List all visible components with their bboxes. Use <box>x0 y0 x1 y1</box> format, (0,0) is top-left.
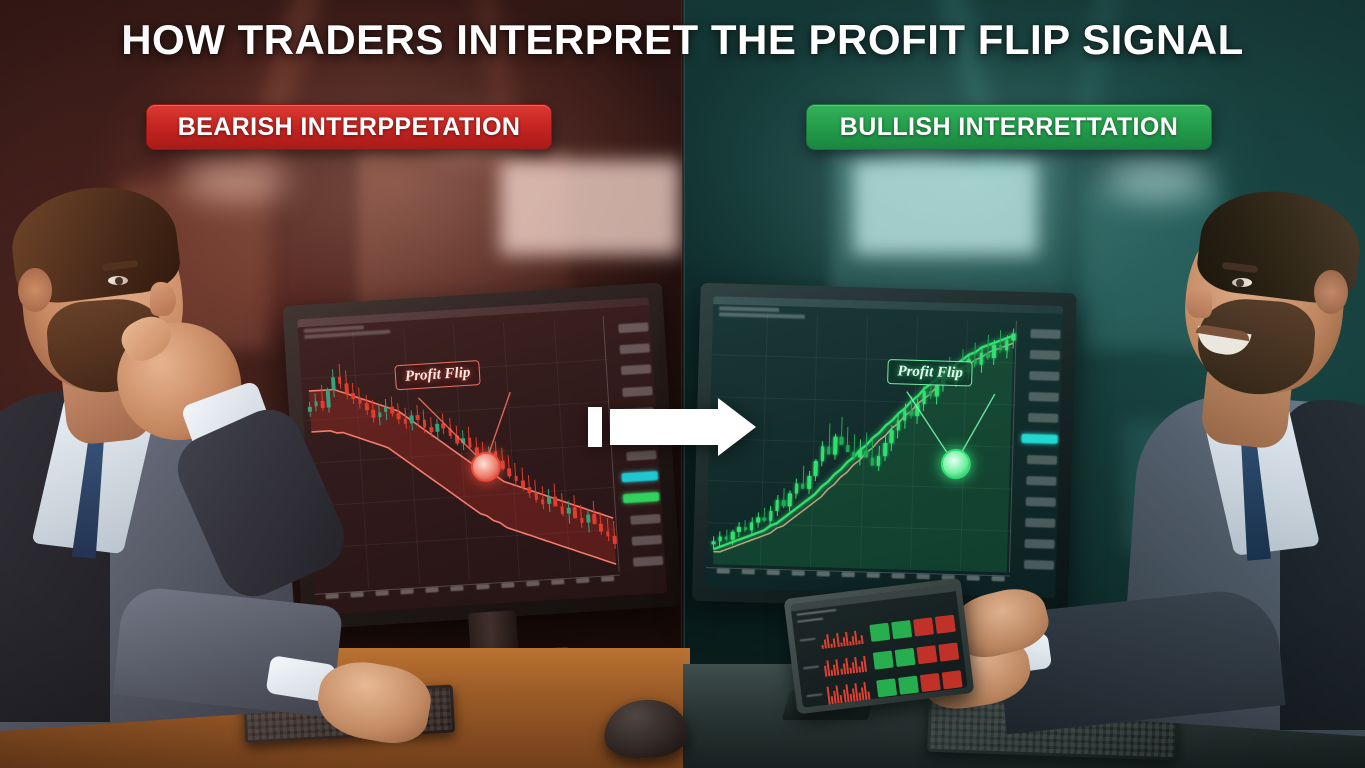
tablet-cell <box>942 670 963 689</box>
x-axis-tick <box>501 582 514 588</box>
x-axis-tick <box>400 589 413 595</box>
tablet-cell <box>869 623 890 642</box>
tablet-bar <box>840 669 843 675</box>
x-axis-tick <box>325 593 338 599</box>
price-axis-label <box>1025 518 1055 528</box>
tablet-cell <box>891 620 912 639</box>
x-axis-tick <box>551 579 564 585</box>
tablet-bar <box>861 635 864 644</box>
tablet-bar <box>840 642 842 646</box>
tablet-cell <box>898 676 919 695</box>
candle <box>986 335 990 360</box>
tablet-bar <box>849 641 851 645</box>
candle <box>864 432 868 457</box>
price-axis-label <box>630 513 661 524</box>
candle <box>788 491 792 511</box>
candle <box>807 471 811 494</box>
x-axis-tick <box>916 574 929 579</box>
tablet-bar <box>821 645 823 649</box>
x-axis-tick <box>841 572 854 577</box>
candle <box>814 459 818 482</box>
candle <box>999 330 1003 353</box>
candle <box>750 517 754 535</box>
candle <box>718 532 722 547</box>
tablet-bar <box>863 656 867 672</box>
candle <box>724 529 728 542</box>
x-axis-tick <box>741 569 754 574</box>
price-axis-label <box>622 386 653 397</box>
x-axis-tick <box>866 573 879 578</box>
x-axis-tick <box>991 576 1004 581</box>
tablet-bar <box>858 640 860 644</box>
x-axis-tick <box>716 568 729 573</box>
x-axis-tick <box>891 573 904 578</box>
candle <box>840 417 844 445</box>
tablet-bar <box>826 634 830 648</box>
bullish-badge: BULLISH INTERRETTATION <box>806 104 1212 150</box>
candle <box>846 427 850 452</box>
tablet-screen[interactable] <box>790 584 967 707</box>
candle <box>833 434 837 459</box>
bullish-monitor: Profit Flip <box>691 283 1076 633</box>
x-axis-tick <box>426 587 439 593</box>
candle <box>858 440 862 465</box>
candle <box>769 505 773 525</box>
price-axis-label <box>632 535 663 546</box>
price-axis-label <box>619 343 650 354</box>
tablet-cell <box>920 673 941 692</box>
candle <box>870 440 874 465</box>
x-axis-tick <box>791 570 804 575</box>
profit-flip-label: Profit Flip <box>394 360 481 390</box>
candle <box>737 522 741 537</box>
price-axis-label <box>1024 560 1054 570</box>
candle <box>762 508 766 523</box>
candle <box>801 466 805 489</box>
tablet-cell <box>873 650 894 669</box>
candle <box>876 445 880 470</box>
page-title: HOW TRADERS INTERPRET THE PROFIT FLIP SI… <box>0 16 1365 64</box>
candle <box>731 529 735 544</box>
candle <box>1005 335 1009 358</box>
tablet-cell <box>935 615 956 634</box>
x-axis-tick <box>816 571 829 576</box>
candle <box>820 441 824 466</box>
tablet-bar <box>836 633 840 647</box>
candle <box>775 495 779 515</box>
tablet-bar <box>840 695 843 703</box>
tablet-cell <box>876 678 897 697</box>
tablet-cell <box>938 642 959 661</box>
price-axis-label <box>1030 329 1060 339</box>
tablet-bar <box>836 659 840 675</box>
bullish-chart-screen[interactable]: Profit Flip <box>705 296 1063 598</box>
x-axis-tick <box>350 592 363 598</box>
candle <box>852 435 856 460</box>
x-axis-tick <box>451 585 464 591</box>
candle <box>743 520 747 533</box>
bearish-chart-screen[interactable]: Profit Flip <box>297 297 667 615</box>
x-axis-tick <box>966 575 979 580</box>
profit-flip-label: Profit Flip <box>887 359 973 386</box>
tablet-bar <box>845 632 849 646</box>
price-axis-label <box>626 450 657 461</box>
trading-tablet[interactable] <box>784 578 975 715</box>
price-axis-label <box>1030 350 1060 360</box>
x-axis-tick <box>476 584 489 590</box>
tablet-bar <box>868 691 871 699</box>
x-axis-tick <box>766 570 779 575</box>
x-axis-tick <box>601 576 614 582</box>
candle <box>756 513 760 528</box>
bearish-monitor: Profit Flip <box>282 282 683 655</box>
tablet-bar <box>833 638 836 647</box>
tablet-cell <box>895 648 916 667</box>
tablet-cell <box>913 617 934 636</box>
price-axis-label <box>1025 539 1055 549</box>
candle <box>782 488 786 508</box>
bearish-badge: BEARISH INTERPPETATION <box>146 104 552 150</box>
x-axis-tick <box>576 578 589 584</box>
tablet-bar <box>854 631 858 645</box>
candle <box>794 478 798 498</box>
tablet-cell <box>916 645 937 664</box>
price-axis-label <box>618 322 649 333</box>
x-axis-tick <box>526 581 539 587</box>
poster-canvas: Profit Flip Profit Flip <box>0 0 1365 768</box>
tablet-bar <box>831 644 833 648</box>
x-axis-tick <box>375 590 388 596</box>
candle <box>712 536 716 549</box>
price-axis-label <box>1026 497 1056 507</box>
